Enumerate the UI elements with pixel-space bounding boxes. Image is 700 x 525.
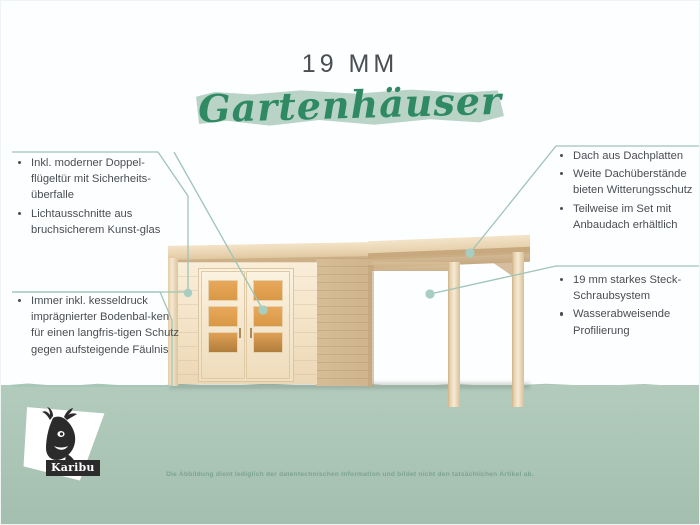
list-item: Weite Dachüberstände bieten Witterungssc…	[556, 166, 700, 198]
door-pane	[253, 280, 283, 301]
house-inner-wall-edge	[368, 265, 374, 387]
list-item-label: Immer inkl. kesseldruck imprägnierter Bo…	[31, 295, 179, 356]
door-pane	[208, 332, 238, 353]
door-pane	[253, 306, 283, 327]
feature-list-right-bottom: 19 mm starkes Steck-Schraubsystem Wasser…	[556, 272, 700, 341]
page-title: Gartenhäuser	[0, 72, 700, 137]
infographic-canvas: 19 MM Gartenhäuser Inkl. moderner Doppel…	[0, 0, 700, 525]
feature-list-left-bottom: Immer inkl. kesseldruck imprägnierter Bo…	[14, 293, 179, 360]
list-item-label: Weite Dachüberstände bieten Witterungssc…	[573, 168, 692, 196]
door-pane	[208, 280, 238, 301]
door-pane	[208, 306, 238, 327]
door-pane	[253, 332, 283, 353]
list-item: Wasserabweisende Profilierung	[556, 306, 700, 338]
list-item-label: Dach aus Dachplatten	[573, 150, 683, 162]
list-item: Immer inkl. kesseldruck imprägnierter Bo…	[14, 293, 179, 358]
list-item: Dach aus Dachplatten	[556, 148, 700, 164]
canopy-post-left	[448, 262, 460, 407]
list-item-label: Teilweise im Set mit Anbaudach erhältlic…	[573, 203, 678, 231]
door-handle	[239, 328, 241, 338]
page-title-group: Gartenhäuser	[0, 82, 700, 142]
disclaimer-text: Die Abbildung dient lediglich der datent…	[0, 471, 700, 478]
list-item: Inkl. moderner Doppel-flügeltür mit Sich…	[14, 155, 179, 204]
list-item-label: 19 mm starkes Steck-Schraubsystem	[573, 274, 681, 302]
list-item: Lichtausschnitte aus bruchsicherem Kunst…	[14, 206, 179, 238]
house-side-wall	[316, 258, 372, 386]
list-item-label: Inkl. moderner Doppel-flügeltür mit Sich…	[31, 157, 151, 201]
door-handle	[250, 328, 252, 338]
list-item-label: Wasserabweisende Profilierung	[573, 308, 670, 336]
list-item: 19 mm starkes Steck-Schraubsystem	[556, 272, 700, 304]
callout-dot-wall	[425, 289, 434, 298]
door-leaf-left	[201, 271, 245, 379]
door-leaf-right	[246, 271, 290, 379]
list-item-label: Lichtausschnitte aus bruchsicherem Kunst…	[31, 208, 160, 236]
feature-list-right-top: Dach aus Dachplatten Weite Dachüberständ…	[556, 148, 700, 235]
canopy-beam	[368, 262, 460, 271]
canopy-post-right	[512, 252, 524, 407]
list-item: Teilweise im Set mit Anbaudach erhältlic…	[556, 201, 700, 233]
double-door	[198, 268, 294, 382]
feature-list-left-top: Inkl. moderner Doppel-flügeltür mit Sich…	[14, 155, 179, 240]
